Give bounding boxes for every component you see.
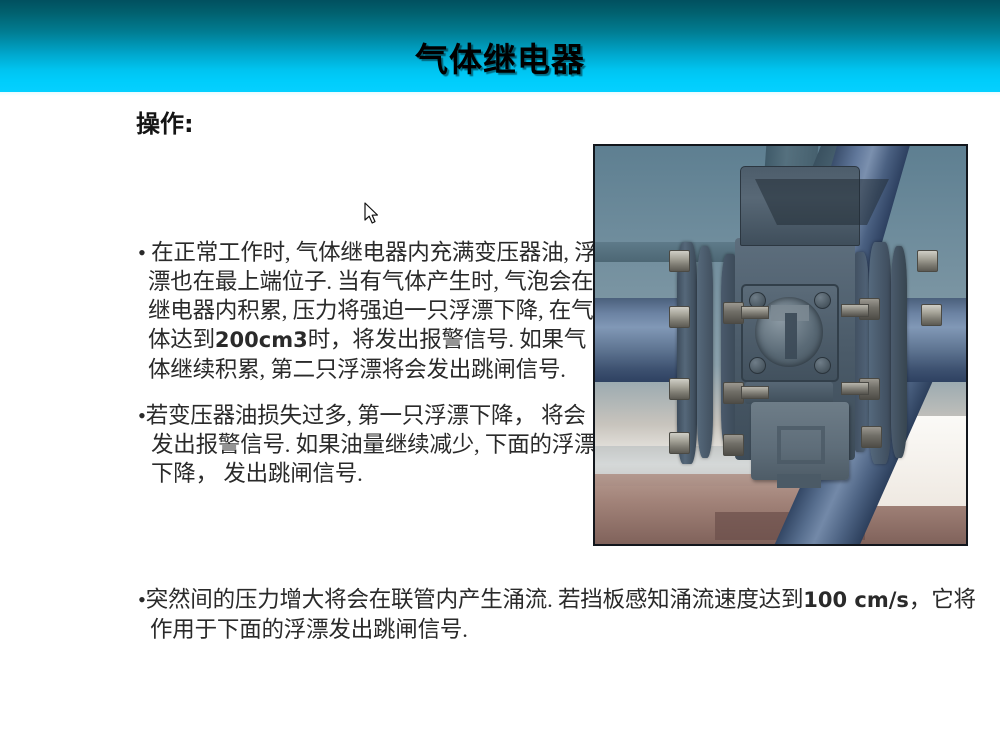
- bolt-shaft-right-1: [841, 304, 869, 317]
- bolt-right-2: [921, 304, 942, 326]
- header-underline: [0, 92, 1000, 96]
- bolt-shaft-right-2: [841, 382, 869, 395]
- photo-canvas: [595, 146, 966, 544]
- bullet-marker: •: [138, 240, 146, 265]
- bolt-left-3: [669, 378, 690, 400]
- bolt-left-inner-3: [723, 434, 744, 456]
- bolt-right-1: [917, 250, 938, 272]
- bullet-marker: •: [138, 403, 146, 428]
- paragraph-1-measure: 200cm3: [215, 328, 308, 352]
- relay-float-stem: [785, 313, 797, 359]
- bolt-left-4: [669, 432, 690, 454]
- bolt-left-1: [669, 250, 690, 272]
- relay-nameplate: [751, 402, 849, 480]
- relay-inspection-plate: [741, 284, 839, 382]
- page-title: 气体继电器: [0, 40, 1000, 80]
- paragraph-3-text-a: 突然间的压力增大将会在联管内产生涌流. 若挡板感知涌流速度达到: [146, 587, 804, 612]
- plate-screw-bottom-left: [749, 357, 766, 374]
- relay-cover-bevel: [755, 179, 889, 273]
- nameplate-embossed-mark: [777, 426, 825, 464]
- bolt-shaft-left-1: [741, 306, 769, 319]
- bullet-marker: •: [138, 587, 146, 612]
- flange-left-middle: [697, 246, 713, 458]
- flange-right-outer: [891, 246, 907, 458]
- plate-screw-bottom-right: [814, 357, 831, 374]
- bullet-paragraph-2: •若变压器油损失过多, 第一只浮漂下降， 将会发出报警信号. 如果油量继续减少,…: [138, 401, 603, 488]
- bullet-paragraph-1: • 在正常工作时, 气体继电器内充满变压器油, 浮漂也在最上端位子. 当有气体产…: [138, 238, 600, 384]
- relay-top-cover: [740, 166, 860, 246]
- mouse-pointer-icon: [364, 202, 380, 226]
- bolt-right-inner-3: [861, 426, 882, 448]
- section-heading: 操作:: [136, 109, 194, 139]
- paragraph-3-measure: 100 cm/s: [803, 588, 909, 612]
- gas-relay-photo: [593, 144, 968, 546]
- flange-left-outer: [677, 242, 697, 464]
- plate-screw-top-right: [814, 292, 831, 309]
- bolt-left-2: [669, 306, 690, 328]
- paragraph-2-text: 若变压器油损失过多, 第一只浮漂下降， 将会发出报警信号. 如果油量继续减少, …: [146, 403, 597, 486]
- bullet-paragraph-3: •突然间的压力增大将会在联管内产生涌流. 若挡板感知涌流速度达到100 cm/s…: [138, 585, 980, 644]
- nameplate-bracket: [777, 474, 821, 488]
- bolt-shaft-left-2: [741, 386, 769, 399]
